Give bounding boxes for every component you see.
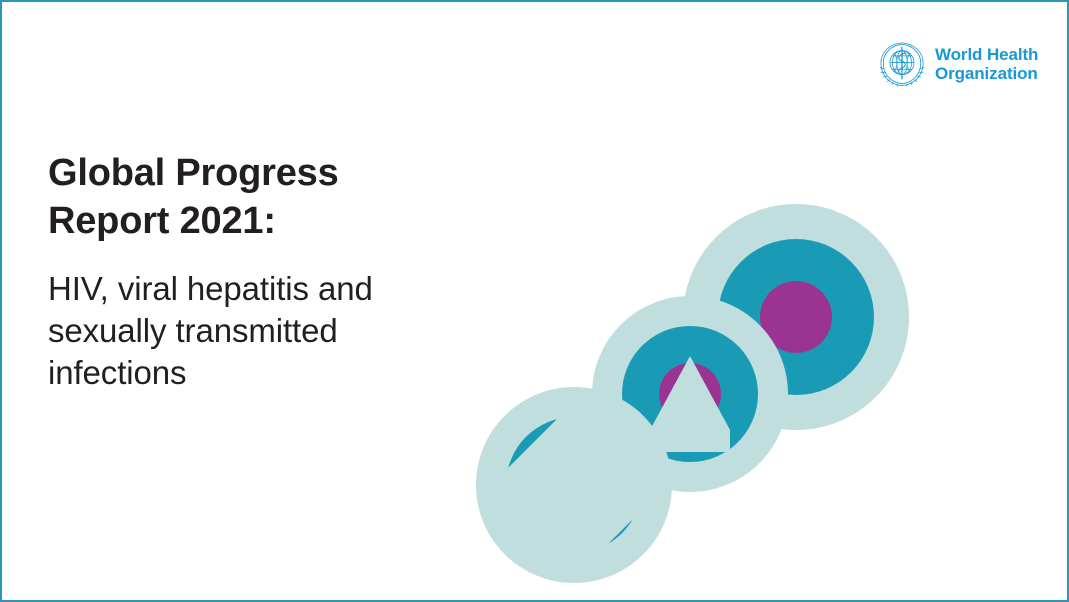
report-cover-slide: World Health Organization Global Progres… [0, 0, 1069, 602]
cover-text-block: Global Progress Report 2021: HIV, viral … [48, 150, 478, 394]
who-wordmark-line-2: Organization [935, 64, 1038, 83]
report-subtitle: HIV, viral hepatitis and sexually transm… [48, 268, 478, 395]
who-wordmark-line-1: World Health [935, 45, 1038, 64]
cover-graphic [452, 112, 932, 592]
who-wordmark: World Health Organization [935, 45, 1038, 83]
who-logo: World Health Organization [878, 40, 1038, 88]
report-title: Global Progress Report 2021: [48, 150, 478, 246]
who-emblem-icon [878, 40, 926, 88]
bottom-target-motif [476, 387, 672, 583]
